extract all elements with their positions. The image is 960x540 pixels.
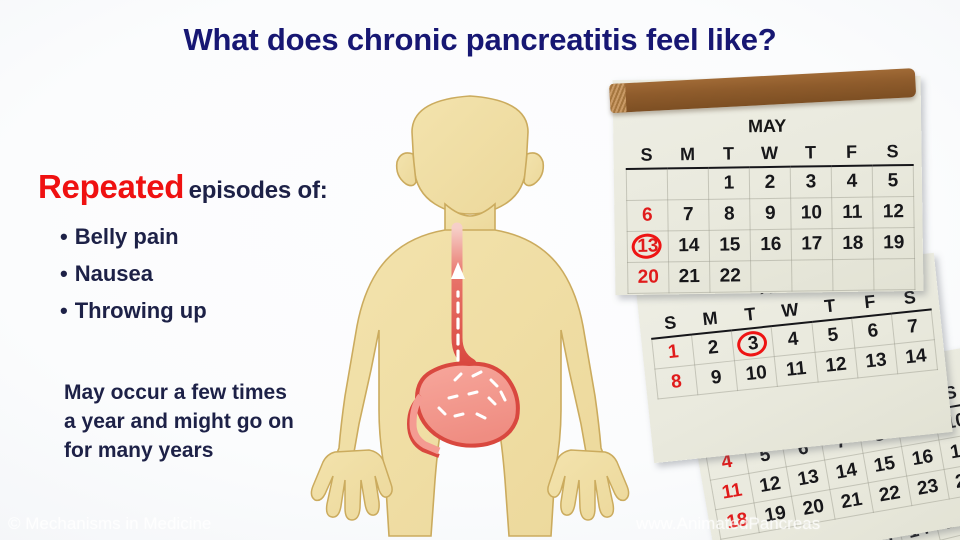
calendar-grid: SMTWTFS123456789101112131415161718192021…	[625, 138, 915, 294]
symptom-label: Nausea	[75, 261, 153, 286]
calendar-weekday-header: T	[708, 140, 749, 168]
calendar-day-cell[interactable]: 22	[710, 261, 751, 293]
calendar-day-cell-circled[interactable]: 13	[627, 231, 668, 263]
calendar-day-cell[interactable]: 10	[791, 198, 832, 230]
calendar-week-row: 12345	[626, 165, 913, 201]
calendar-day-cell[interactable]: 6	[627, 200, 668, 232]
bullet-icon: •	[60, 298, 68, 323]
bullet-icon: •	[60, 224, 68, 249]
calendar-day-cell[interactable]: 2	[749, 167, 790, 199]
slide-canvas: What does chronic pancreatitis feel like…	[0, 0, 960, 540]
calendar-day-cell[interactable]: 7	[668, 199, 709, 231]
frequency-note: May occur a few times a year and might g…	[64, 378, 299, 465]
calendar-weekday-header: S	[626, 141, 667, 169]
calendar-day-cell[interactable]: 14	[668, 230, 709, 262]
calendar-day-cell[interactable]: 21	[830, 483, 873, 519]
calendar-day-cell[interactable]: 5	[811, 318, 854, 353]
calendar-week-row: 202122	[628, 258, 915, 293]
calendar-day-cell[interactable]: 7	[891, 309, 934, 344]
copyright-watermark: © Mechanisms in Medicine	[8, 514, 211, 534]
calendar-empty-cell	[626, 168, 667, 200]
calendar-day-cell[interactable]: 5	[872, 165, 913, 197]
calendar-empty-cell	[792, 260, 833, 292]
body-figure-svg	[305, 80, 635, 540]
calendar-weekday-header: M	[667, 141, 708, 169]
lead-line: Repeated episodes of:	[38, 168, 328, 206]
calendar-day-cell[interactable]: 8	[655, 365, 698, 399]
calendar-weekday-header: T	[790, 139, 831, 167]
calendar-weekday-header: F	[831, 139, 872, 167]
calendar-binder-bar	[609, 68, 916, 113]
calendar-may[interactable]: MAY SMTWTFS12345678910111213141516171819…	[613, 76, 924, 295]
calendar-day-cell[interactable]: 9	[695, 361, 738, 395]
calendar-day-cell[interactable]: 20	[628, 262, 669, 294]
calendar-day-cell[interactable]: 19	[754, 496, 797, 532]
list-item: •Throwing up	[60, 292, 207, 329]
bullet-icon: •	[60, 261, 68, 286]
calendar-weekday-header: S	[872, 138, 913, 166]
symptom-label: Belly pain	[75, 224, 179, 249]
calendar-day-cell[interactable]: 4	[831, 166, 872, 198]
calendar-day-cell[interactable]: 1	[652, 335, 695, 370]
calendar-day-cell[interactable]: 9	[750, 198, 791, 230]
calendar-day-cell[interactable]: 20	[792, 490, 835, 526]
list-item: •Belly pain	[60, 218, 207, 255]
calendar-day-cell[interactable]: 18	[716, 503, 759, 539]
calendar-day-cell[interactable]: 13	[855, 344, 898, 378]
calendar-day-cell[interactable]: 16	[750, 229, 791, 261]
slide-title: What does chronic pancreatitis feel like…	[0, 22, 960, 58]
calendar-day-cell[interactable]: 14	[894, 340, 937, 374]
calendar-day-cell[interactable]: 12	[815, 348, 858, 382]
left-hand	[311, 450, 392, 520]
calendar-day-cell[interactable]: 11	[832, 197, 873, 229]
symptom-list: •Belly pain •Nausea •Throwing up	[60, 218, 207, 329]
calendar-day-cell[interactable]: 8	[709, 199, 750, 231]
list-item: •Nausea	[60, 255, 207, 292]
calendar-week-row: 6789101112	[627, 196, 914, 231]
calendar-day-cell[interactable]: 15	[709, 230, 750, 262]
calendar-day-cell[interactable]: 18	[832, 228, 873, 260]
calendar-weekday-header: W	[749, 140, 790, 168]
calendar-week-row: 13141516171819	[627, 227, 914, 262]
calendar-stack: FEBRUARY SMTWTFS145678910111213141518192…	[600, 70, 960, 540]
body-silhouette	[311, 96, 628, 536]
calendar-day-cell[interactable]: 2	[692, 330, 735, 365]
calendar-day-cell[interactable]: 4	[771, 322, 814, 357]
calendar-month-label: MAY	[613, 114, 921, 139]
calendar-header-row: SMTWTFS	[626, 138, 913, 169]
calendar-day-cell[interactable]: 17	[791, 229, 832, 261]
calendar-empty-cell	[751, 260, 792, 292]
calendar-day-cell[interactable]: 22	[868, 476, 911, 512]
calendar-day-cell-circled[interactable]: 3	[732, 326, 775, 361]
calendar-day-cell[interactable]: 6	[851, 314, 894, 349]
calendar-empty-cell	[667, 168, 708, 200]
calendar-day-cell[interactable]: 12	[873, 196, 914, 228]
emphasis-repeated: Repeated	[38, 168, 184, 205]
calendar-day-cell[interactable]: 11	[775, 352, 818, 386]
anatomy-illustration	[305, 80, 635, 540]
calendar-day-cell[interactable]: 23	[906, 469, 949, 505]
calendar-day-cell[interactable]: 21	[669, 261, 710, 293]
calendar-day-cell[interactable]: 10	[735, 357, 778, 391]
symptom-label: Throwing up	[75, 298, 207, 323]
calendar-day-cell[interactable]: 19	[873, 227, 914, 259]
calendar-day-cell[interactable]: 3	[790, 166, 831, 198]
calendar-empty-cell	[833, 259, 874, 291]
calendar-empty-cell	[874, 258, 915, 290]
calendar-day-cell[interactable]: 1	[708, 167, 749, 199]
